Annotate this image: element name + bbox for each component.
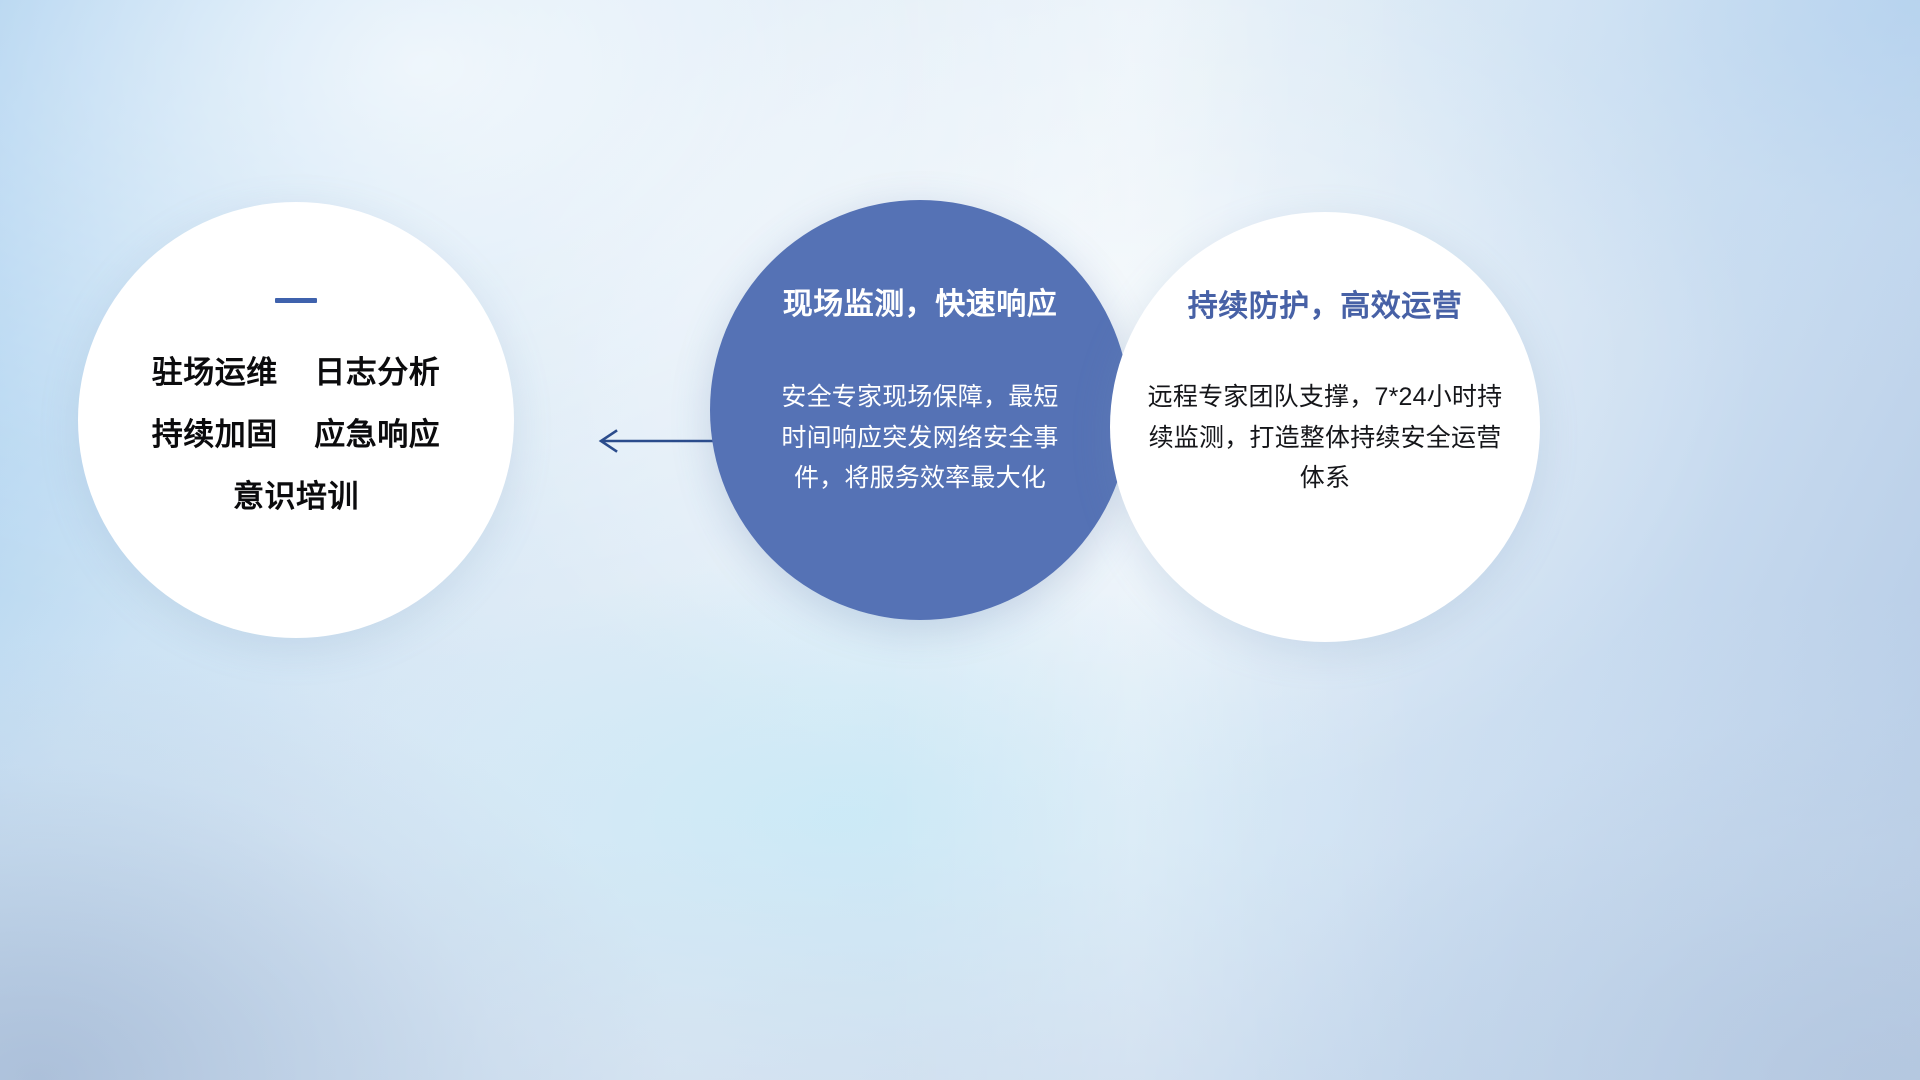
node-capabilities-content: 驻场运维 日志分析 持续加固 应急响应 意识培训	[78, 202, 514, 512]
capability-line-2: 持续加固 应急响应	[152, 419, 440, 450]
node-onsite-body: 安全专家现场保障，最短时间响应突发网络安全事件，将服务效率最大化	[770, 377, 1070, 499]
horizontal-dash-icon	[275, 298, 317, 303]
node-onsite[interactable]: 现场监测，快速响应 安全专家现场保障，最短时间响应突发网络安全事件，将服务效率最…	[710, 200, 1130, 620]
capability-line-3: 意识培训	[233, 481, 359, 512]
node-continuous-title: 持续防护，高效运营	[1188, 290, 1463, 323]
node-onsite-content: 现场监测，快速响应 安全专家现场保障，最短时间响应突发网络安全事件，将服务效率最…	[710, 200, 1130, 499]
node-onsite-title: 现场监测，快速响应	[783, 288, 1058, 321]
node-continuous-body: 远程专家团队支撑，7*24小时持续监测，打造整体持续安全运营体系	[1145, 377, 1505, 499]
node-continuous[interactable]: 持续防护，高效运营 远程专家团队支撑，7*24小时持续监测，打造整体持续安全运营…	[1110, 212, 1540, 642]
node-continuous-content: 持续防护，高效运营 远程专家团队支撑，7*24小时持续监测，打造整体持续安全运营…	[1110, 212, 1540, 499]
capability-line-1: 驻场运维 日志分析	[152, 357, 440, 388]
slide-canvas: 驻场运维 日志分析 持续加固 应急响应 意识培训 现场监测，快速响应 安全专家现…	[0, 0, 1920, 1080]
node-capabilities[interactable]: 驻场运维 日志分析 持续加固 应急响应 意识培训	[78, 202, 514, 638]
